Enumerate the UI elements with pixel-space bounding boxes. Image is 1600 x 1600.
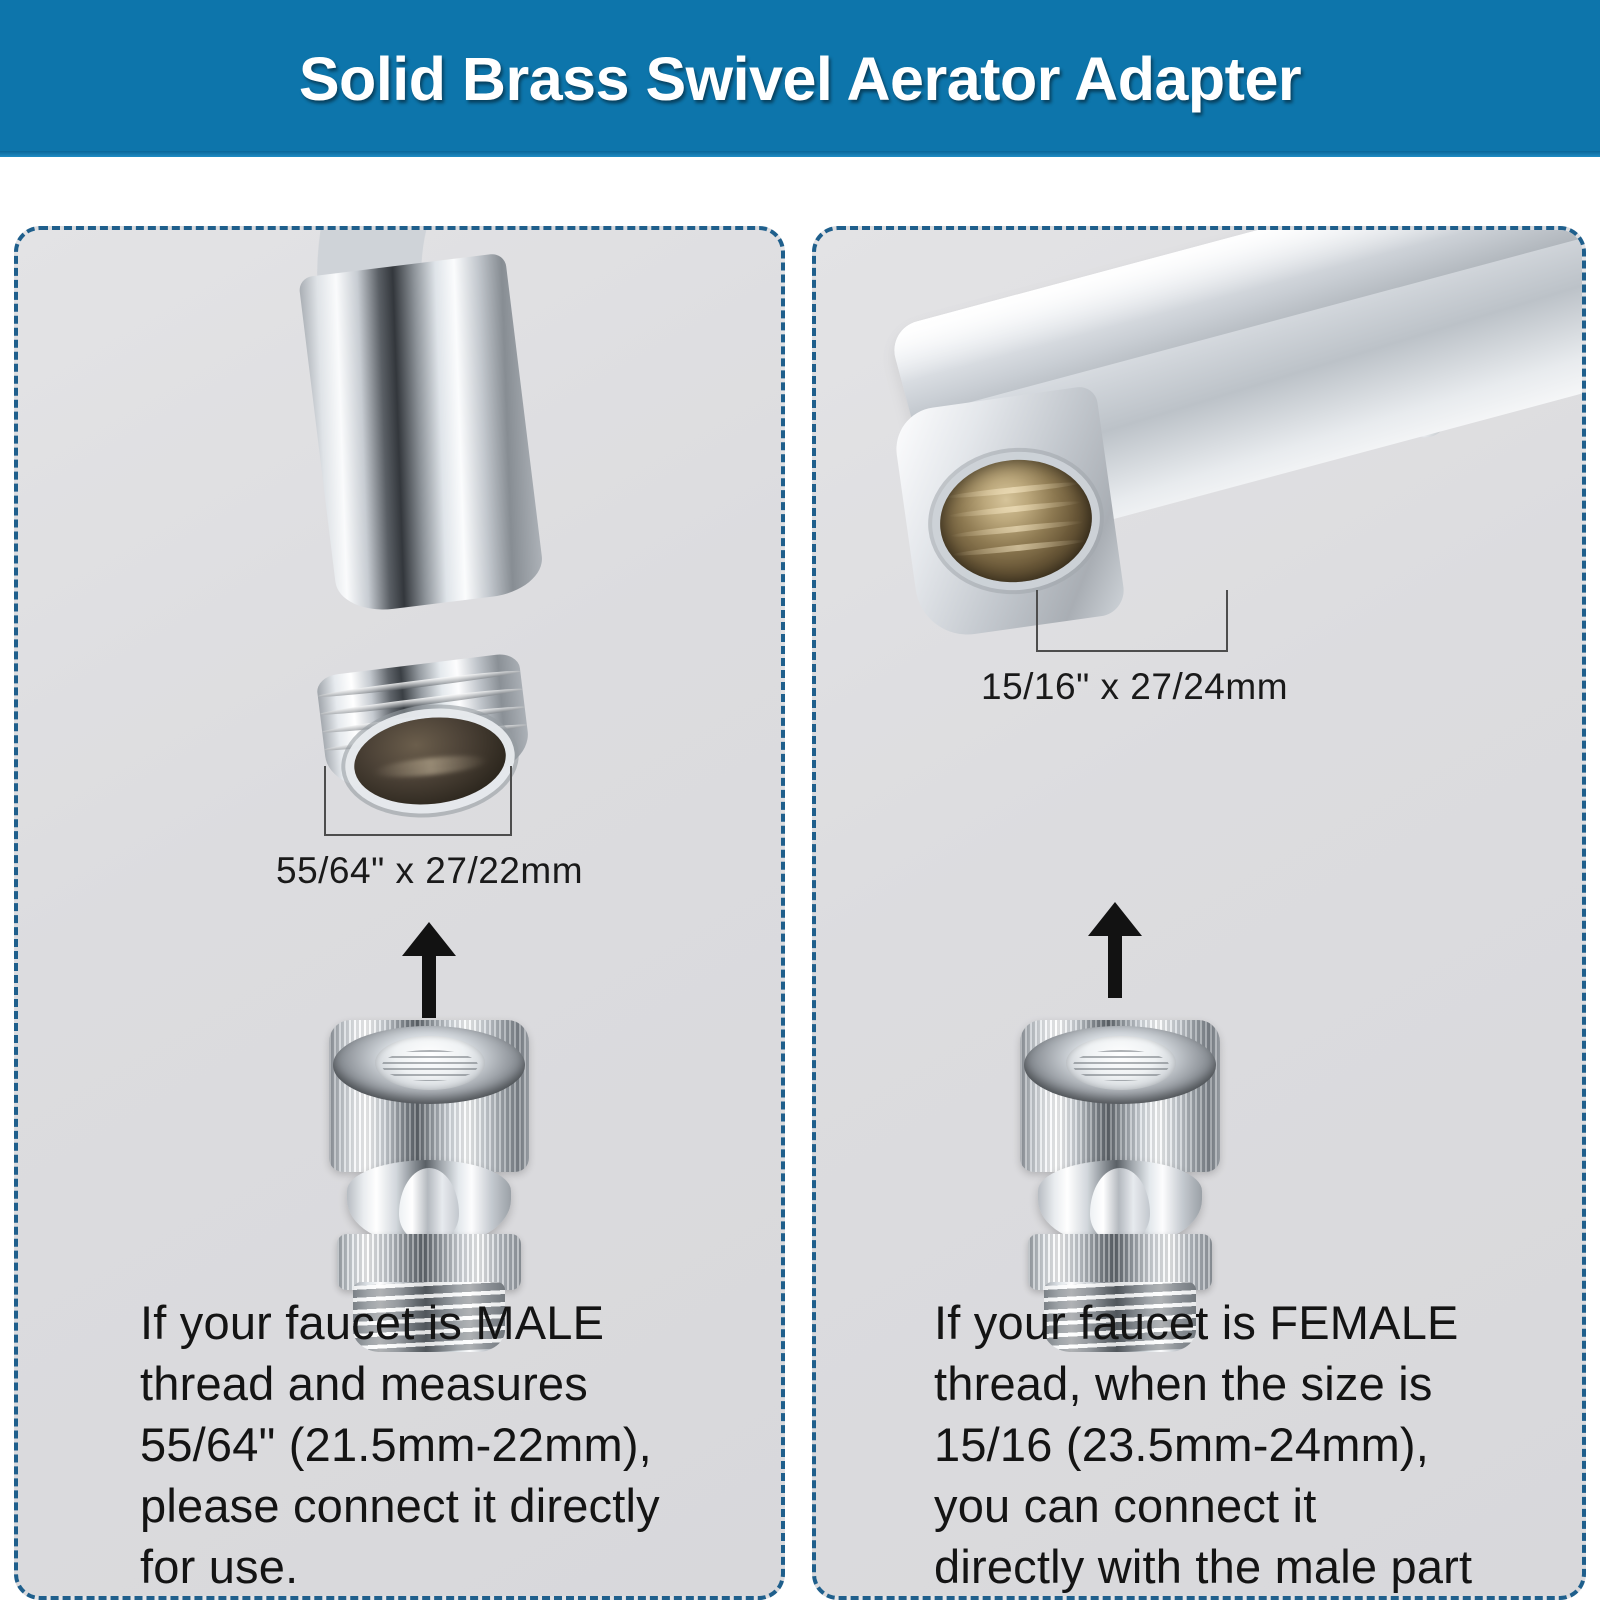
header-banner: Solid Brass Swivel Aerator Adapter [0,0,1600,157]
page-title: Solid Brass Swivel Aerator Adapter [299,44,1301,114]
adapter-aerator-screen [375,1036,485,1090]
comparison-panels: 55/64" x 27/22mm If your faucet is MALE … [0,157,1600,1600]
female-dimension-label: 15/16" x 27/24mm [981,666,1288,708]
female-caption-text: If your faucet is FEMALE thread, when th… [934,1292,1479,1600]
faucet-spout-graphic [18,230,781,644]
male-thread-panel: 55/64" x 27/22mm If your faucet is MALE … [14,226,785,1600]
male-dimension-label: 55/64" x 27/22mm [276,850,583,892]
up-arrow-icon [402,922,456,1018]
male-faucet-photo [18,230,781,1130]
male-dimension-line [324,766,512,836]
up-arrow-icon [1088,902,1142,998]
female-thread-panel: 15/16" x 27/24mm If your faucet is FEMAL… [812,226,1586,1600]
female-dimension-line [1036,590,1228,652]
spout-shaft [298,253,546,616]
male-caption-text: If your faucet is MALE thread and measur… [140,1292,665,1597]
adapter-aerator-screen [1066,1036,1176,1090]
